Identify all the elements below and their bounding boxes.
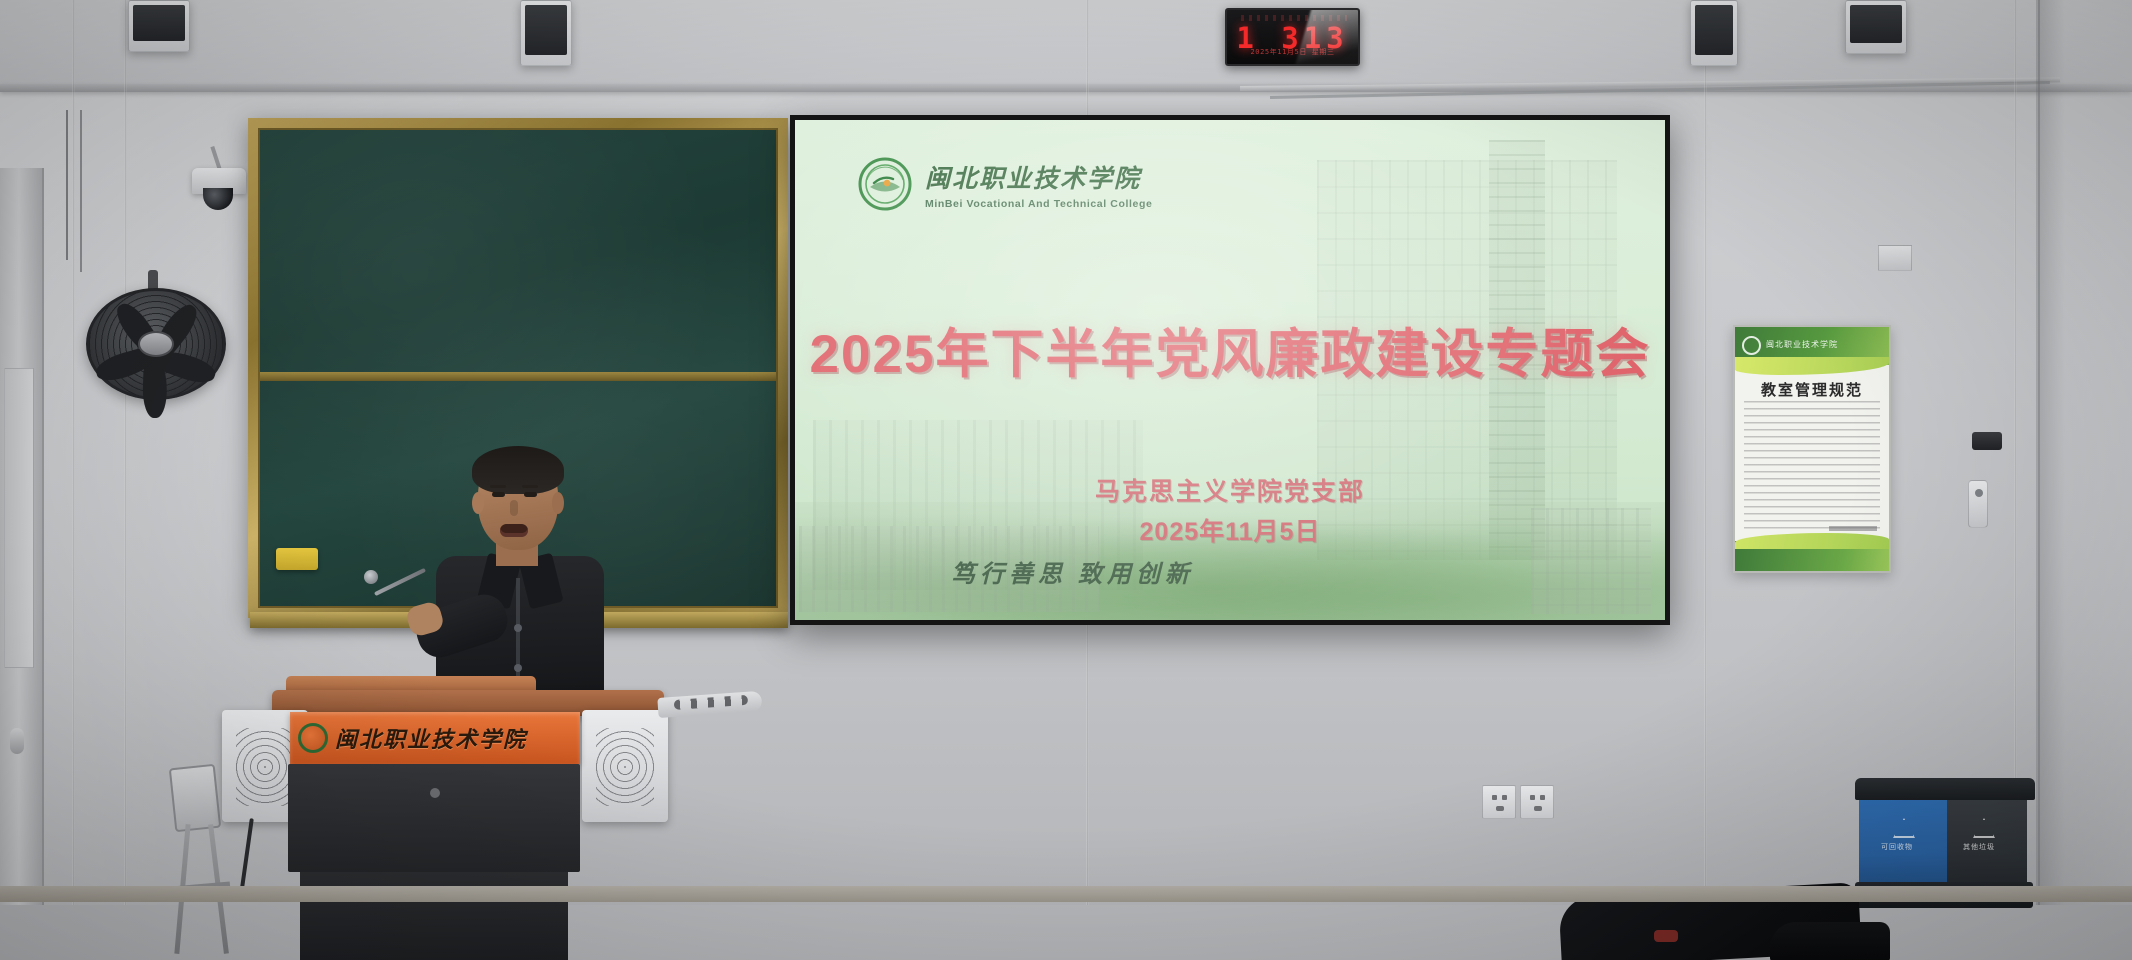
blackboard-divider bbox=[260, 372, 776, 381]
chalk-eraser[interactable] bbox=[276, 548, 318, 570]
security-camera bbox=[192, 168, 246, 212]
wall-plate bbox=[1878, 245, 1912, 271]
podium-speaker-mesh-icon bbox=[236, 728, 294, 806]
secondary-camera bbox=[1972, 432, 2002, 450]
person-mouth bbox=[500, 524, 528, 537]
speaker-person bbox=[420, 452, 620, 712]
fan-hub bbox=[138, 331, 174, 357]
podium-logo-icon bbox=[298, 723, 328, 753]
ceiling-band bbox=[0, 0, 2132, 92]
outlet-socket-icon bbox=[1534, 806, 1542, 811]
bin-label: 其他垃圾 bbox=[1963, 842, 1995, 852]
power-outlet[interactable] bbox=[1482, 785, 1516, 819]
wall-speaker bbox=[520, 0, 572, 66]
notice-header: 闽北职业技术学院 bbox=[1735, 327, 1889, 365]
slide-subtitle-date: 2025年11月5日 bbox=[795, 512, 1665, 548]
notice-body-text bbox=[1744, 401, 1880, 533]
notice-signature bbox=[1829, 526, 1877, 531]
bin-lid[interactable] bbox=[1855, 778, 1955, 800]
person-nose bbox=[510, 500, 518, 516]
college-name-en: MinBei Vocational And Technical College bbox=[925, 198, 1152, 210]
slide-motto: 笃行善思 致用创新 bbox=[951, 554, 1194, 589]
bin-label: 可回收物 bbox=[1881, 842, 1913, 852]
jacket-button bbox=[514, 664, 522, 672]
chair-back bbox=[169, 764, 221, 832]
speaker-grill-icon bbox=[1695, 5, 1733, 55]
speaker-grill-icon bbox=[1850, 5, 1902, 43]
classroom-scene: 1 313 2025年11月5日 星期三 bbox=[0, 0, 2132, 960]
door-panel bbox=[4, 368, 34, 668]
podium-front-panel bbox=[288, 764, 580, 872]
power-outlet[interactable] bbox=[1520, 785, 1554, 819]
person-eyebrow bbox=[490, 485, 506, 488]
wall-seam bbox=[1704, 0, 1707, 905]
wall-corner bbox=[2038, 0, 2040, 905]
person-hair bbox=[472, 446, 564, 494]
bin-lid[interactable] bbox=[1943, 778, 2035, 800]
college-emblem-icon bbox=[857, 156, 913, 212]
wall-sensor bbox=[1968, 480, 1988, 528]
person-ear bbox=[472, 492, 484, 514]
outlet-socket-icon bbox=[1496, 806, 1504, 811]
speaker-grill-icon bbox=[133, 5, 185, 41]
fan-pull-cord[interactable] bbox=[66, 110, 68, 260]
notice-title: 教室管理规范 bbox=[1735, 379, 1889, 400]
door-knob[interactable] bbox=[10, 728, 24, 754]
jacket-button bbox=[514, 624, 522, 632]
person-ear bbox=[552, 492, 564, 514]
fan-cage-icon bbox=[86, 288, 226, 400]
speaker-grill-icon bbox=[525, 5, 567, 55]
camera-dome-icon bbox=[203, 188, 233, 210]
floor bbox=[0, 900, 2132, 960]
person-eyebrow bbox=[522, 485, 538, 488]
door-frame-left[interactable] bbox=[0, 168, 44, 905]
wall-speaker bbox=[128, 0, 190, 52]
podium-latch-icon[interactable] bbox=[430, 788, 440, 798]
notice-board: 闽北职业技术学院 教室管理规范 bbox=[1733, 325, 1891, 573]
wall-seam bbox=[124, 0, 127, 905]
wall-fan bbox=[86, 288, 226, 400]
right-wall-return bbox=[2036, 0, 2132, 905]
microphone-icon bbox=[364, 570, 378, 584]
notice-footer bbox=[1735, 541, 1889, 571]
podium-speaker-mesh-icon bbox=[596, 728, 654, 806]
wall-seam bbox=[72, 0, 75, 905]
podium-banner-text: 闽北职业技术学院 bbox=[335, 722, 527, 754]
sensor-led-icon bbox=[1975, 489, 1983, 497]
podium-banner: 闽北职业技术学院 bbox=[290, 712, 580, 764]
podium-side-panel bbox=[582, 710, 668, 822]
person-eye bbox=[524, 492, 537, 497]
wall-speaker bbox=[1845, 0, 1907, 54]
person-eye bbox=[492, 492, 505, 497]
college-name-cn: 闽北职业技术学院 bbox=[925, 159, 1152, 195]
notice-org-name: 闽北职业技术学院 bbox=[1766, 339, 1838, 350]
slide-title: 2025年下半年党风廉政建设专题会 bbox=[795, 312, 1665, 388]
wall-speaker bbox=[1690, 0, 1738, 66]
slide-subtitle-org: 马克思主义学院党支部 bbox=[795, 472, 1665, 508]
fan-pull-cord[interactable] bbox=[80, 110, 82, 272]
notice-logo-icon bbox=[1742, 336, 1761, 355]
projection-screen-frame: 闽北职业技术学院 MinBei Vocational And Technical… bbox=[790, 115, 1670, 625]
projection-screen: 闽北职业技术学院 MinBei Vocational And Technical… bbox=[795, 120, 1665, 620]
wall-digital-clock: 1 313 2025年11月5日 星期三 bbox=[1225, 8, 1360, 66]
college-logo-lockup: 闽北职业技术学院 MinBei Vocational And Technical… bbox=[857, 156, 1152, 212]
